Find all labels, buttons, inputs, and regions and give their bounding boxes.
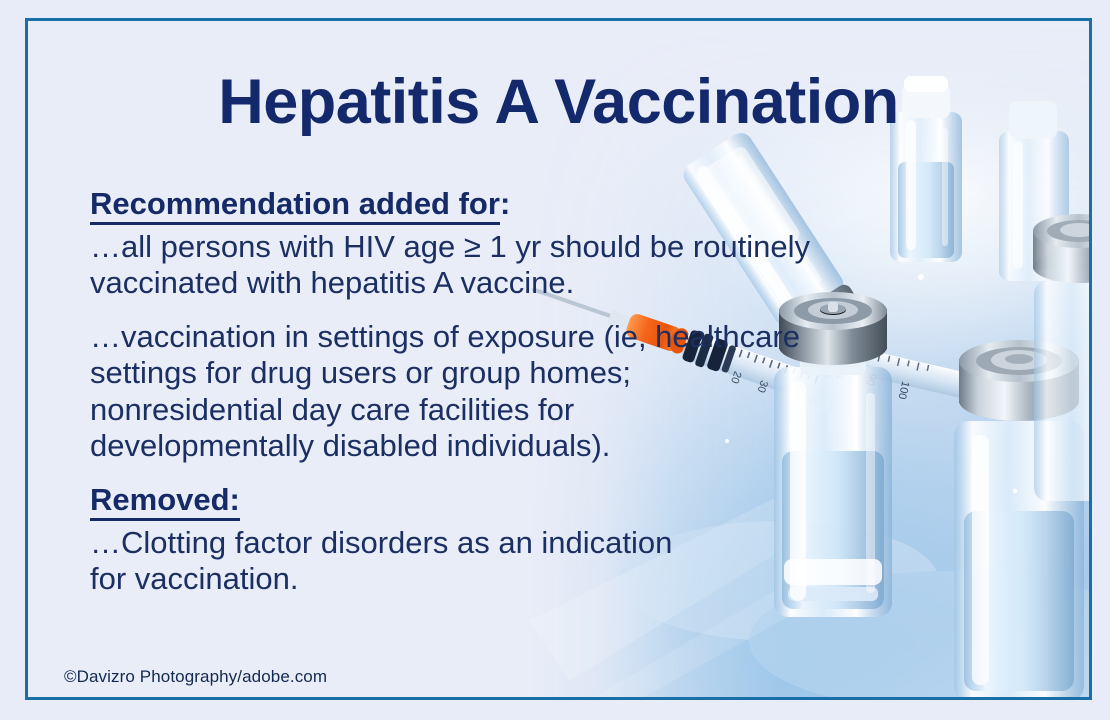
section-removed: Removed: …Clotting factor disorders as a… [90,482,970,597]
paragraph-clotting-factor: …Clotting factor disorders as an indicat… [90,525,950,598]
slide: 20 30 [0,0,1110,720]
section-heading-recommendation-added: Recommendation added for: [90,186,970,223]
body-content: Recommendation added for: …all persons w… [90,186,970,611]
paragraph-line: …vaccination in settings of exposure (ie… [90,319,950,355]
section-heading-underlined-text: Removed: [90,482,240,521]
paragraph-line: vaccinated with hepatitis A vaccine. [90,265,950,301]
vial-far-right [1033,214,1089,501]
paragraph-line: for vaccination. [90,561,950,597]
page-title: Hepatitis A Vaccination [28,69,1089,135]
vial-cap [959,340,1079,421]
section-recommendation-added: Recommendation added for: …all persons w… [90,186,970,464]
section-heading-underlined-text: Recommendation added for [90,186,500,225]
section-heading-removed: Removed: [90,482,970,519]
paragraph-line: settings for drug users or group homes; [90,355,950,391]
paragraph-line: …Clotting factor disorders as an indicat… [90,525,950,561]
paragraph-exposure-settings: …vaccination in settings of exposure (ie… [90,319,950,464]
vial-front-right [954,340,1084,700]
paragraph-line: …all persons with HIV age ≥ 1 yr should … [90,229,950,265]
paragraph-line: nonresidential day care facilities for [90,392,950,428]
slide-frame: 20 30 [25,18,1092,700]
paragraph-hiv-recommendation: …all persons with HIV age ≥ 1 yr should … [90,229,950,302]
section-heading-colon: : [500,186,510,221]
paragraph-line: developmentally disabled individuals). [90,428,950,464]
photo-credit: ©Davizro Photography/adobe.com [64,667,327,687]
